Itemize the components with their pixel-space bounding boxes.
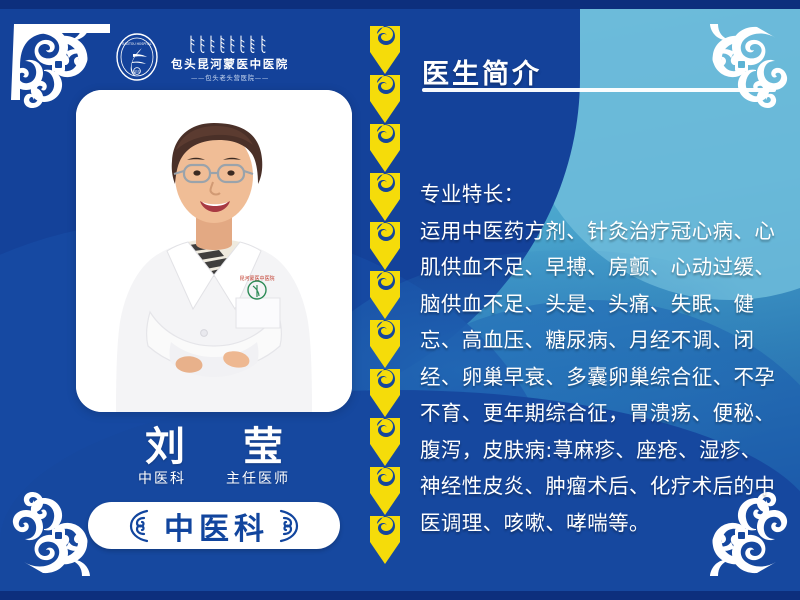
- cloud-scroll-corner-icon: [684, 16, 792, 108]
- doctor-department: 中医科: [138, 468, 186, 488]
- specialty-text: 运用中医药方剂、针灸治疗冠心病、心肌供血不足、早搏、房颤、心动过缓、脑供血不足、…: [420, 219, 775, 535]
- hospital-name: 包头昆河蒙医中医院: [171, 56, 289, 72]
- doctor-name: 刘 莹: [76, 414, 352, 472]
- hospital-header: BAOTOU HOSPITAL 昆河: [112, 32, 289, 82]
- svg-text:昆河: 昆河: [134, 69, 140, 73]
- scroll-flourish-icon: [127, 509, 153, 543]
- hospital-subtitle: ——包头老头营医院——: [191, 73, 269, 82]
- specialty-label: 专业特长：: [420, 176, 776, 213]
- doctor-role-row: 中医科 主任医师: [76, 468, 352, 488]
- scroll-flourish-icon: [275, 509, 301, 543]
- hospital-emblem-icon: BAOTOU HOSPITAL 昆河: [112, 32, 162, 82]
- page-title: 医生简介: [422, 52, 542, 91]
- doctor-introduction-text: 专业特长：运用中医药方剂、针灸治疗冠心病、心肌供血不足、早搏、房颤、心动过缓、脑…: [420, 103, 776, 578]
- title-divider: [422, 88, 776, 92]
- mongolian-script-icon: [186, 34, 274, 55]
- department-badge-label: 中医科: [159, 504, 269, 548]
- doctor-title: 主任医师: [226, 468, 290, 488]
- top-border-bar: [0, 0, 800, 9]
- hospital-name-block: 包头昆河蒙医中医院 ——包头老头营医院——: [171, 32, 289, 82]
- svg-text:BAOTOU HOSPITAL: BAOTOU HOSPITAL: [122, 42, 151, 46]
- bottom-border-bar: [0, 591, 800, 600]
- mongolian-border-band-icon: [368, 26, 402, 574]
- department-badge: 中医科: [88, 502, 340, 549]
- doctor-profile-poster: BAOTOU HOSPITAL 昆河: [0, 0, 800, 600]
- doctor-portrait: 昆河蒙医中医院: [76, 90, 352, 412]
